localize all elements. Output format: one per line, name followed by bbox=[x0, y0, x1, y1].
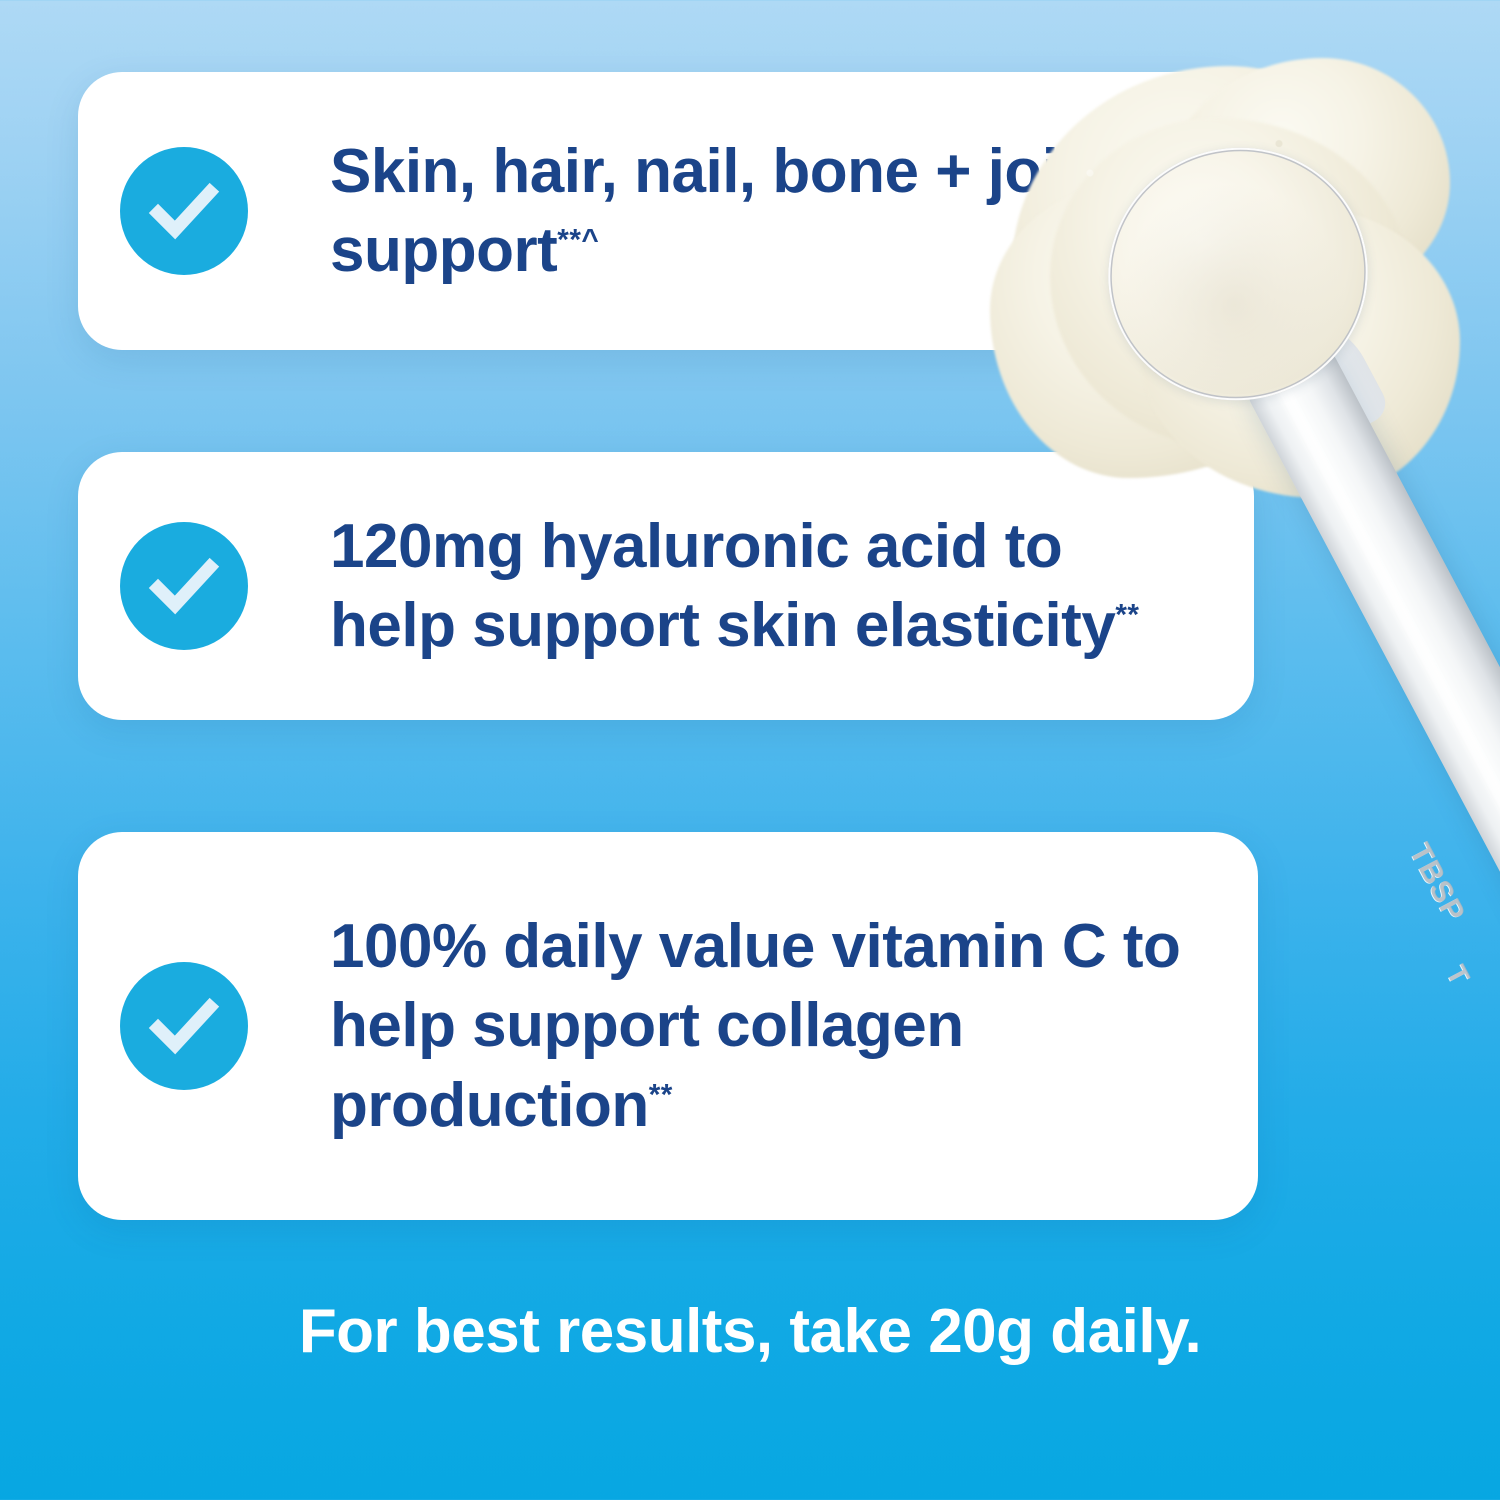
benefit-card: 120mg hyaluronic acid to help support sk… bbox=[78, 452, 1254, 720]
benefit-text-body: 100% daily value vitamin C to help suppo… bbox=[330, 912, 1180, 1140]
benefit-card: 100% daily value vitamin C to help suppo… bbox=[78, 832, 1258, 1220]
benefit-text: 100% daily value vitamin C to help suppo… bbox=[330, 907, 1230, 1145]
check-circle-icon bbox=[120, 147, 248, 275]
benefit-text-body: Skin, hair, nail, bone + joint support bbox=[330, 137, 1116, 285]
benefit-text: Skin, hair, nail, bone + joint support**… bbox=[330, 132, 1210, 291]
benefit-footnote-marker: ** bbox=[649, 1078, 673, 1111]
benefit-text-body: 120mg hyaluronic acid to help support sk… bbox=[330, 512, 1115, 660]
promo-image-stage: Skin, hair, nail, bone + joint support**… bbox=[0, 0, 1500, 1500]
benefit-text: 120mg hyaluronic acid to help support sk… bbox=[330, 507, 1210, 666]
dosage-footer-text: For best results, take 20g daily. bbox=[0, 1296, 1500, 1367]
benefit-card: Skin, hair, nail, bone + joint support**… bbox=[78, 72, 1258, 350]
benefit-card-list: Skin, hair, nail, bone + joint support**… bbox=[0, 0, 1500, 1500]
benefit-footnote-marker: ** bbox=[1115, 598, 1139, 631]
check-circle-icon bbox=[120, 962, 248, 1090]
benefit-footnote-marker: **^ bbox=[557, 223, 599, 256]
check-circle-icon bbox=[120, 522, 248, 650]
